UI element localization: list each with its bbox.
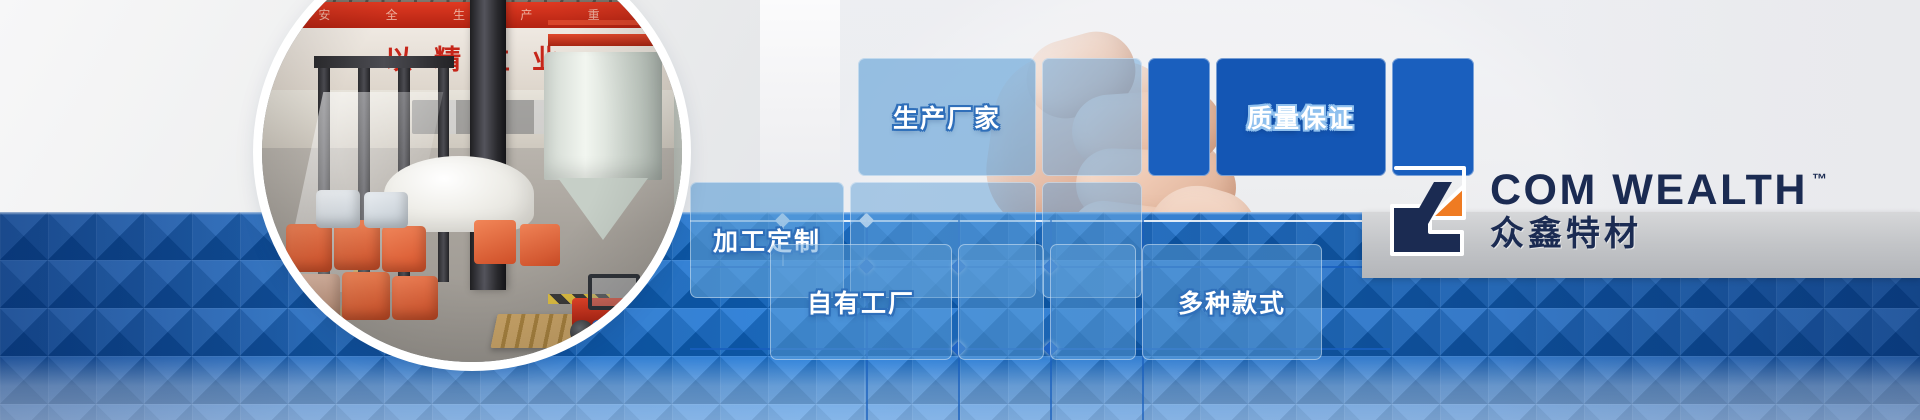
feature-tile-grid-lower: 自有工厂 多种款式 (690, 244, 1270, 374)
tile-styles[interactable]: 多种款式 (1142, 244, 1322, 360)
tile-own-factory[interactable]: 自有工厂 (770, 244, 952, 360)
tile-manufacturer[interactable]: 生产厂家 (858, 58, 1036, 176)
tile-quality-left[interactable] (1148, 58, 1210, 176)
trademark-symbol: ™ (1812, 171, 1827, 188)
com-wealth-z-mark-icon (1390, 162, 1476, 258)
tile-quality[interactable]: 质量保证 (1216, 58, 1386, 176)
company-logo[interactable]: COM WEALTH ™ 众鑫特材 (1390, 146, 1920, 274)
tile-label-own-factory: 自有工厂 (807, 284, 915, 320)
tile-manufacturer-adjacent[interactable] (1042, 58, 1142, 176)
tile-label-styles: 多种款式 (1178, 284, 1286, 320)
factory-photo: 安 全 生 产 重 以精立业 (262, 0, 682, 362)
logo-chinese-name: 众鑫特材 (1490, 217, 1827, 251)
logo-english-name: COM WEALTH (1490, 169, 1808, 212)
logo-wordmark: COM WEALTH ™ 众鑫特材 (1490, 169, 1827, 251)
tile-styles-left[interactable] (1050, 244, 1136, 360)
photo-vignette (262, 0, 682, 362)
tile-own-factory-right[interactable] (958, 244, 1044, 360)
tile-label-manufacturer: 生产厂家 (893, 99, 1001, 135)
tile-label-quality: 质量保证 (1247, 99, 1355, 135)
promo-banner: 生产厂家 质量保证 加工定制 自有工厂 多种款式 安 全 生 产 (0, 0, 1920, 420)
factory-photo-circle: 安 全 生 产 重 以精立业 (262, 0, 682, 362)
